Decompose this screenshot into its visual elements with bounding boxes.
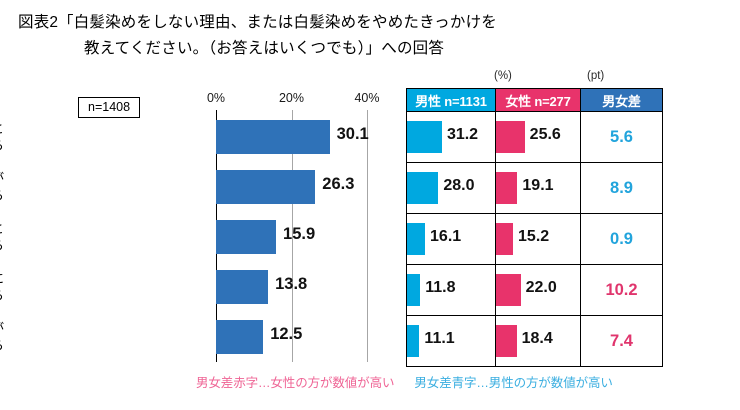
category-label: 自然な髪が好きだから <box>0 170 4 204</box>
title-line-1: 図表2「白髪染めをしない理由、または白髪染めをやめたきっかけを <box>18 10 718 36</box>
value-female: 25.6 <box>530 126 561 144</box>
category-label-line: 染めていない方がいいと <box>0 220 4 237</box>
unit-label-percent: (%) <box>494 70 512 82</box>
cell-female: 19.1 <box>496 163 581 214</box>
column-header-diff: 男女差 <box>581 89 663 112</box>
table-row: 16.115.20.9 <box>407 214 663 265</box>
bar <box>216 170 315 204</box>
category-label-line: 自然な髪が <box>0 170 4 187</box>
value-female: 15.2 <box>518 228 549 246</box>
x-tick-label: 20% <box>279 91 304 105</box>
x-tick-label: 40% <box>354 91 379 105</box>
bar-value-label: 13.8 <box>275 275 307 294</box>
mini-bar-male <box>407 121 442 153</box>
cell-male: 16.1 <box>407 214 496 265</box>
mini-bar-female <box>496 274 521 306</box>
title-text-line1: 「白髪染めをしない理由、または白髪染めをやめたきっかけを <box>58 14 497 31</box>
value-female: 18.4 <box>522 330 553 348</box>
cell-male: 11.1 <box>407 316 496 367</box>
category-label-line: 面倒になったから <box>0 337 4 354</box>
value-male: 31.2 <box>447 126 478 144</box>
value-difference: 0.9 <box>581 214 663 265</box>
mini-bar-male <box>407 223 425 255</box>
category-label-line: 好きだから <box>0 187 4 204</box>
category-label: 続けるのにお金がかかるから <box>0 270 4 304</box>
cell-female: 15.2 <box>496 214 581 265</box>
chart-plot-area: 0%20%40% 30.126.315.913.812.5 <box>216 110 368 388</box>
value-male: 11.8 <box>425 279 455 297</box>
cell-female: 18.4 <box>496 316 581 367</box>
comparison-table: (%) (pt) 男性 n=1131 女性 n=277 男女差 31.225.6… <box>406 88 659 367</box>
bar-chart: n=1408 0%20%40% 30.126.315.913.812.5 年齢相… <box>0 86 400 371</box>
mini-bar-male <box>407 274 420 306</box>
category-label-line: 年齢相応でいいと <box>0 120 4 137</box>
cell-male: 28.0 <box>407 163 496 214</box>
category-label: 年齢相応でいいと思うようになったから <box>0 120 4 154</box>
value-difference: 7.4 <box>581 316 663 367</box>
sample-size-badge: n=1408 <box>78 97 140 118</box>
legend-note-female-higher: 男女差赤字…女性の方が数値が高い <box>196 376 394 390</box>
legend-note-male-higher: 男女差青字…男性の方が数値が高い <box>414 376 612 390</box>
table-body: 31.225.65.628.019.18.916.115.20.911.822.… <box>407 112 663 367</box>
unit-label-point: (pt) <box>587 70 604 82</box>
category-label-line: 続けるのに <box>0 270 4 287</box>
gridline-40% <box>367 110 368 362</box>
category-label-line: 思うようになったから <box>0 137 4 154</box>
category-label-line: 続けるのが <box>0 320 4 337</box>
mini-bar-male <box>407 172 438 204</box>
figure-number: 図表2 <box>18 10 58 36</box>
value-male: 11.1 <box>424 330 454 348</box>
cell-male: 31.2 <box>407 112 496 163</box>
bar <box>216 270 268 304</box>
value-male: 28.0 <box>443 177 474 195</box>
bar <box>216 120 330 154</box>
category-label-line: 自分で感じたから <box>0 237 4 254</box>
value-female: 19.1 <box>522 177 553 195</box>
cell-female: 22.0 <box>496 265 581 316</box>
table-row: 11.118.47.4 <box>407 316 663 367</box>
mini-bar-male <box>407 325 419 357</box>
cell-female: 25.6 <box>496 112 581 163</box>
bar-value-label: 26.3 <box>322 175 354 194</box>
bar-value-label: 12.5 <box>270 325 302 344</box>
legend-note: 男女差赤字…女性の方が数値が高い男女差青字…男性の方が数値が高い <box>196 372 613 391</box>
mini-bar-female <box>496 172 517 204</box>
stat-table: 男性 n=1131 女性 n=277 男女差 31.225.65.628.019… <box>406 88 663 367</box>
x-tick-label: 0% <box>207 91 225 105</box>
bar <box>216 320 263 354</box>
table-row: 31.225.65.6 <box>407 112 663 163</box>
category-label-line: お金がかかるから <box>0 287 4 304</box>
mini-bar-female <box>496 121 525 153</box>
column-header-female: 女性 n=277 <box>496 89 581 112</box>
value-difference: 10.2 <box>581 265 663 316</box>
page-title: 図表2「白髪染めをしない理由、または白髪染めをやめたきっかけを 教えてください。… <box>18 10 718 62</box>
value-difference: 5.6 <box>581 112 663 163</box>
mini-bar-female <box>496 223 513 255</box>
table-row: 11.822.010.2 <box>407 265 663 316</box>
value-difference: 8.9 <box>581 163 663 214</box>
bar-value-label: 15.9 <box>283 225 315 244</box>
title-text-line2: 教えてください。（お答えはいくつでも）」への回答 <box>18 36 718 62</box>
bar-value-label: 30.1 <box>337 125 369 144</box>
value-male: 16.1 <box>430 228 461 246</box>
cell-male: 11.8 <box>407 265 496 316</box>
table-header-row: 男性 n=1131 女性 n=277 男女差 <box>407 89 663 112</box>
category-label: 染めていない方がいいと自分で感じたから <box>0 220 4 254</box>
category-label: 続けるのが面倒になったから <box>0 320 4 354</box>
bar <box>216 220 276 254</box>
mini-bar-female <box>496 325 517 357</box>
value-female: 22.0 <box>526 279 557 297</box>
column-header-male: 男性 n=1131 <box>407 89 496 112</box>
table-row: 28.019.18.9 <box>407 163 663 214</box>
